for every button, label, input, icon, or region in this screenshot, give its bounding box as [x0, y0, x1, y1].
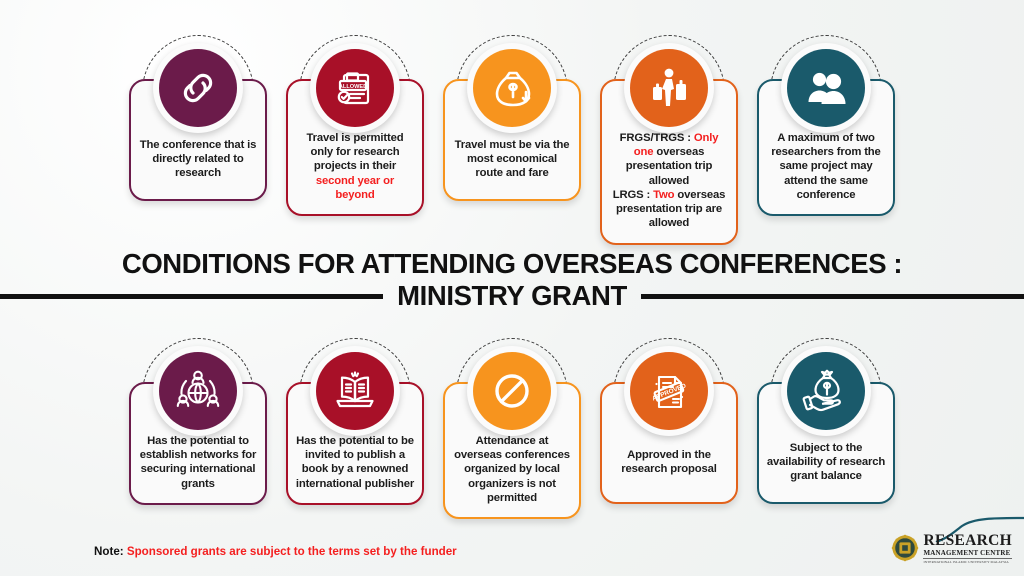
card-text: Attendance at overseas conferences organ…: [452, 434, 572, 505]
conditions-row-top: The conference that is directly related …: [0, 33, 1024, 245]
card-trip-limits[interactable]: FRGS/TRGS : Only one overseas presentati…: [600, 33, 738, 245]
icon-badge: [624, 43, 714, 133]
title-rule-left: [0, 294, 383, 299]
logo-title: RESEARCH: [923, 533, 1012, 549]
icon-badge: [467, 346, 557, 436]
open-book-icon: [316, 352, 394, 430]
page-title: CONDITIONS FOR ATTENDING OVERSEAS CONFER…: [0, 248, 1024, 312]
card-text: Subject to the availability of research …: [766, 441, 886, 484]
icon-badge: [781, 43, 871, 133]
title-line-2-row: MINISTRY GRANT: [0, 280, 1024, 312]
card-second-year[interactable]: ALLOWEDTravel is permitted only for rese…: [286, 33, 424, 245]
two-people-icon: [787, 49, 865, 127]
title-line-1: CONDITIONS FOR ATTENDING OVERSEAS CONFER…: [0, 248, 1024, 279]
card-local-organizers[interactable]: Attendance at overseas conferences organ…: [443, 336, 581, 519]
card-text: Has the potential to establish networks …: [138, 434, 258, 491]
allowed-document-icon: ALLOWED: [316, 49, 394, 127]
footer-note-body: Sponsored grants are subject to the term…: [124, 545, 457, 558]
title-line-2: MINISTRY GRANT: [397, 280, 627, 312]
link-chain-icon: [159, 49, 237, 127]
card-text: FRGS/TRGS : Only one overseas presentati…: [609, 131, 729, 231]
footer-note: Note: Sponsored grants are subject to th…: [94, 545, 457, 558]
approved-stamp-document-icon: APPROVED: [630, 352, 708, 430]
traveller-luggage-icon: [630, 49, 708, 127]
icon-badge: [467, 43, 557, 133]
prohibited-icon: [473, 352, 551, 430]
title-rule-right: [641, 294, 1024, 299]
conditions-row-bottom: Has the potential to establish networks …: [0, 336, 1024, 519]
card-networks[interactable]: Has the potential to establish networks …: [129, 336, 267, 519]
icon-badge: [153, 346, 243, 436]
logo-text-block: RESEARCH MANAGEMENT CENTRE INTERNATIONAL…: [923, 533, 1012, 564]
icon-badge: APPROVED: [624, 346, 714, 436]
card-text: The conference that is directly related …: [138, 138, 258, 181]
card-text: Has the potential to be invited to publi…: [295, 434, 415, 491]
hand-money-bag-icon: [787, 352, 865, 430]
infographic-canvas: The conference that is directly related …: [0, 0, 1024, 576]
logo-subtitle: MANAGEMENT CENTRE: [923, 550, 1012, 560]
logo-institution: INTERNATIONAL ISLAMIC UNIVERSITY MALAYSI…: [923, 561, 1012, 564]
icon-badge: [781, 346, 871, 436]
card-grant-balance[interactable]: Subject to the availability of research …: [757, 336, 895, 519]
card-conference-related[interactable]: The conference that is directly related …: [129, 33, 267, 245]
icon-badge: [153, 43, 243, 133]
icon-badge: ALLOWED: [310, 43, 400, 133]
card-text: A maximum of two researchers from the sa…: [766, 131, 886, 202]
card-text: Travel is permitted only for research pr…: [295, 131, 415, 202]
footer-note-label: Note:: [94, 545, 124, 558]
global-network-people-icon: [159, 352, 237, 430]
card-publish-book[interactable]: Has the potential to be invited to publi…: [286, 336, 424, 519]
rmc-emblem-icon: [891, 534, 919, 562]
rmc-logo: RESEARCH MANAGEMENT CENTRE INTERNATIONAL…: [891, 533, 1012, 564]
card-text: Travel must be via the most economical r…: [452, 138, 572, 181]
icon-badge: [310, 346, 400, 436]
card-approved-proposal[interactable]: APPROVED Approved in the research propos…: [600, 336, 738, 519]
card-two-researchers[interactable]: A maximum of two researchers from the sa…: [757, 33, 895, 245]
svg-text:ALLOWED: ALLOWED: [339, 84, 367, 90]
card-economical-route[interactable]: Travel must be via the most economical r…: [443, 33, 581, 245]
money-bag-down-arrow-icon: [473, 49, 551, 127]
card-text: Approved in the research proposal: [609, 448, 729, 476]
